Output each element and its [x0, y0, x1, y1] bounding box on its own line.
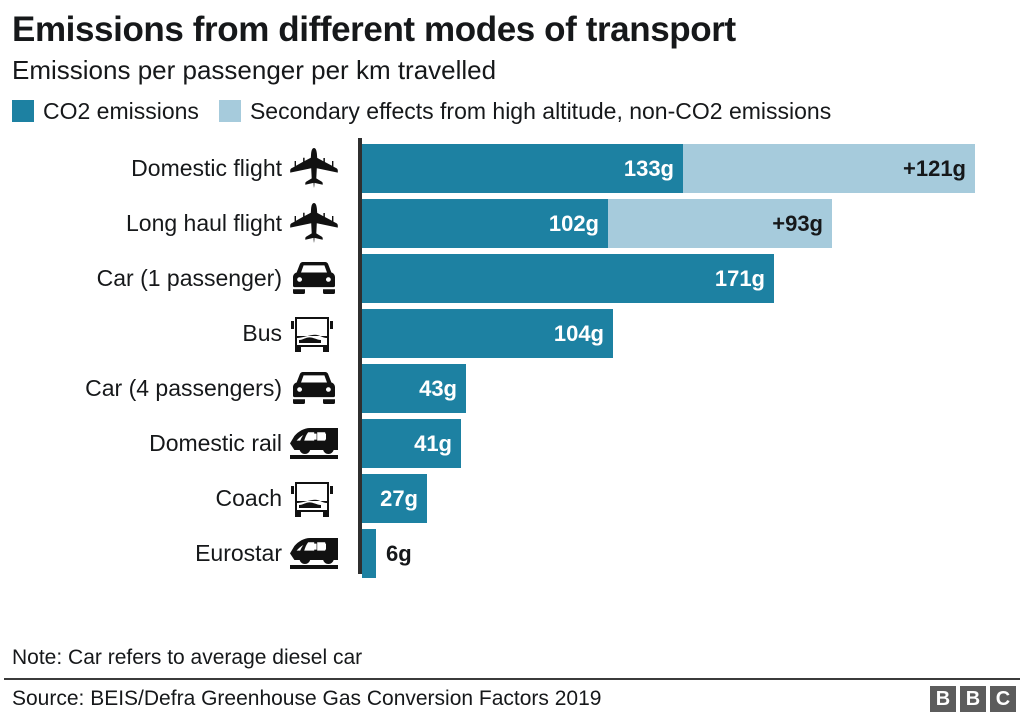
footnote: Note: Car refers to average diesel car	[0, 646, 1024, 678]
bar-segment[interactable]: 102g	[362, 199, 608, 248]
category-label: Bus	[242, 309, 282, 358]
legend-item: CO2 emissions	[12, 98, 199, 124]
bus-icon	[288, 309, 340, 358]
chart-row: Domestic rail41g	[0, 419, 1024, 468]
stacked-bar[interactable]: 102g+93g	[362, 199, 832, 248]
bar-segment[interactable]: 133g	[362, 144, 683, 193]
bar-segment[interactable]: +93g	[608, 199, 832, 248]
chart-row: Car (4 passengers)43g	[0, 364, 1024, 413]
category-label: Long haul flight	[126, 199, 282, 248]
chart-row: Coach27g	[0, 474, 1024, 523]
chart-row: Domestic flight133g+121g	[0, 144, 1024, 193]
category-label: Eurostar	[195, 529, 282, 578]
bbc-logo: BBC	[930, 686, 1016, 712]
chart-row: Eurostar6g	[0, 529, 1024, 578]
chart-plot-area: Domestic flight133g+121gLong haul flight…	[0, 138, 1024, 578]
chart-legend: CO2 emissionsSecondary effects from high…	[0, 86, 1024, 124]
bar-value-label: +93g	[772, 211, 832, 237]
bar-segment[interactable]: 171g	[362, 254, 774, 303]
stacked-bar[interactable]: 41g	[362, 419, 461, 468]
page-title: Emissions from different modes of transp…	[12, 10, 1012, 50]
stacked-bar[interactable]: 43g	[362, 364, 466, 413]
chart-row: Long haul flight102g+93g	[0, 199, 1024, 248]
bar-value-label: 104g	[554, 321, 613, 347]
category-label: Domestic rail	[149, 419, 282, 468]
bar-value-label: 133g	[624, 156, 683, 182]
legend-label: CO2 emissions	[43, 98, 199, 124]
legend-label: Secondary effects from high altitude, no…	[250, 98, 831, 124]
chart-page: Emissions from different modes of transp…	[0, 0, 1024, 720]
bar-segment[interactable]: 6g	[362, 529, 376, 578]
stacked-bar[interactable]: 171g	[362, 254, 774, 303]
bar-value-label: 6g	[376, 541, 412, 567]
bar-value-label: +121g	[903, 156, 975, 182]
legend-swatch-co2	[12, 100, 34, 122]
stacked-bar[interactable]: 104g	[362, 309, 613, 358]
category-label: Car (1 passenger)	[97, 254, 282, 303]
bar-value-label: 102g	[549, 211, 608, 237]
bbc-logo-letter: B	[960, 686, 986, 712]
bar-segment[interactable]: 27g	[362, 474, 427, 523]
legend-swatch-secondary	[219, 100, 241, 122]
chart-footer: Note: Car refers to average diesel car S…	[0, 646, 1024, 720]
train-icon	[288, 419, 340, 468]
airplane-icon	[288, 199, 340, 248]
source-bar: Source: BEIS/Defra Greenhouse Gas Conver…	[0, 680, 1024, 720]
stacked-bar[interactable]: 6g	[362, 529, 376, 578]
bar-segment[interactable]: +121g	[683, 144, 975, 193]
legend-item: Secondary effects from high altitude, no…	[219, 98, 831, 124]
bbc-logo-letter: B	[930, 686, 956, 712]
bar-value-label: 43g	[419, 376, 466, 402]
car-icon	[288, 254, 340, 303]
category-label: Car (4 passengers)	[85, 364, 282, 413]
train-icon	[288, 529, 340, 578]
airplane-icon	[288, 144, 340, 193]
chart-row: Bus104g	[0, 309, 1024, 358]
source-text: Source: BEIS/Defra Greenhouse Gas Conver…	[12, 687, 601, 711]
chart-subtitle: Emissions per passenger per km travelled	[12, 54, 1012, 86]
bar-value-label: 41g	[414, 431, 461, 457]
chart-row: Car (1 passenger)171g	[0, 254, 1024, 303]
category-label: Coach	[216, 474, 282, 523]
bar-segment[interactable]: 43g	[362, 364, 466, 413]
bar-segment[interactable]: 41g	[362, 419, 461, 468]
stacked-bar[interactable]: 133g+121g	[362, 144, 975, 193]
bar-value-label: 171g	[715, 266, 774, 292]
bar-value-label: 27g	[380, 486, 427, 512]
stacked-bar[interactable]: 27g	[362, 474, 427, 523]
bbc-logo-letter: C	[990, 686, 1016, 712]
category-label: Domestic flight	[131, 144, 282, 193]
car-icon	[288, 364, 340, 413]
bar-rows: Domestic flight133g+121gLong haul flight…	[0, 144, 1024, 584]
bar-segment[interactable]: 104g	[362, 309, 613, 358]
bus-icon	[288, 474, 340, 523]
chart-header: Emissions from different modes of transp…	[0, 0, 1024, 86]
